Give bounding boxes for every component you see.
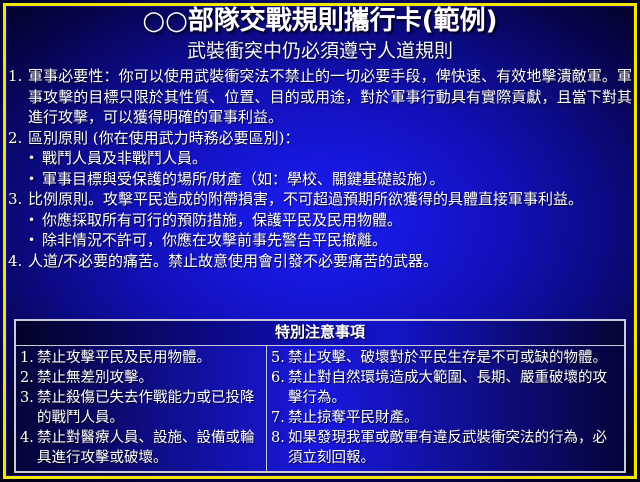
rule-text: 區別原則 (你在使用武力時務必要區別)：	[28, 129, 299, 147]
notice-marker: 2.	[20, 368, 34, 388]
rule-text: 比例原則。攻擊平民造成的附帶損害，不可超過預期所欲獲得的具體直接軍事利益。	[28, 190, 583, 208]
notice-marker: 8.	[271, 428, 285, 448]
rule-text: 軍事必要性：你可以使用武裝衝突法不禁止的一切必要手段，俾快速、有效地擊潰敵軍。軍…	[28, 67, 632, 126]
notice-text: 禁止對醫療人員、設施、設備或輪具進行攻擊或破壞。	[37, 430, 255, 466]
notice-marker: 6.	[271, 368, 285, 388]
rule-text: 人道/不必要的痛苦。禁止故意使用會引發不必要痛苦的武器。	[28, 252, 438, 270]
rule-item-3b: • 除非情況不許可，你應在攻擊前事先警告平民撤離。	[8, 230, 632, 251]
notice-text: 禁止對自然環境造成大範圍、長期、嚴重破壞的攻擊行為。	[288, 370, 607, 406]
notice-table: 特別注意事項 1. 禁止攻擊平民及民用物體。 2. 禁止無差別攻擊。 3. 禁止…	[14, 319, 626, 473]
notice-marker: 3.	[20, 388, 34, 408]
bullet-icon: •	[28, 230, 35, 251]
rule-item-2a: • 戰鬥人員及非戰鬥人員。	[8, 148, 632, 169]
rule-item-1: 1. 軍事必要性：你可以使用武裝衝突法不禁止的一切必要手段，俾快速、有效地擊潰敵…	[8, 66, 632, 128]
notice-text: 如果發現我軍或敵軍有違反武裝衝突法的行為，必須立刻回報。	[288, 430, 607, 466]
notice-text: 禁止無差別攻擊。	[37, 370, 153, 386]
notice-item-4: 4. 禁止對醫療人員、設施、設備或輪具進行攻擊或破壞。	[20, 428, 263, 468]
rule-item-2b: • 軍事目標與受保護的場所/財產（如：學校、關鍵基礎設施）。	[8, 169, 632, 190]
slide-canvas: ○○部隊交戰規則攜行卡(範例) 武裝衝突中仍必須遵守人道規則 1. 軍事必要性：…	[0, 0, 640, 482]
notice-item-6: 6. 禁止對自然環境造成大範圍、長期、嚴重破壞的攻擊行為。	[271, 368, 621, 408]
notice-marker: 5.	[271, 348, 285, 368]
rule-marker: 2.	[8, 128, 28, 149]
rule-item-4: 4. 人道/不必要的痛苦。禁止故意使用會引發不必要痛苦的武器。	[8, 251, 632, 272]
rules-list: 1. 軍事必要性：你可以使用武裝衝突法不禁止的一切必要手段，俾快速、有效地擊潰敵…	[8, 66, 632, 271]
rule-marker: 4.	[8, 251, 28, 272]
notice-item-1: 1. 禁止攻擊平民及民用物體。	[20, 348, 263, 368]
page-subtitle: 武裝衝突中仍必須遵守人道規則	[8, 38, 632, 64]
slide-content: ○○部隊交戰規則攜行卡(範例) 武裝衝突中仍必須遵守人道規則 1. 軍事必要性：…	[8, 5, 632, 476]
notice-table-body: 1. 禁止攻擊平民及民用物體。 2. 禁止無差別攻擊。 3. 禁止殺傷已失去作戰…	[16, 346, 624, 471]
notice-item-7: 7. 禁止掠奪平民財產。	[271, 408, 621, 428]
rule-text: 戰鬥人員及非戰鬥人員。	[42, 149, 207, 167]
notice-column-right: 5. 禁止攻擊、破壞對於平民生存是不可或缺的物體。 6. 禁止對自然環境造成大範…	[267, 346, 624, 471]
rule-marker: 1.	[8, 66, 28, 87]
notice-column-left: 1. 禁止攻擊平民及民用物體。 2. 禁止無差別攻擊。 3. 禁止殺傷已失去作戰…	[16, 346, 267, 471]
notice-item-2: 2. 禁止無差別攻擊。	[20, 368, 263, 388]
notice-table-header: 特別注意事項	[16, 321, 624, 346]
bullet-icon: •	[28, 148, 35, 169]
notice-text: 禁止攻擊平民及民用物體。	[37, 350, 211, 366]
rule-item-3a: • 你應採取所有可行的預防措施，保護平民及民用物體。	[8, 210, 632, 231]
notice-marker: 1.	[20, 348, 34, 368]
bullet-icon: •	[28, 169, 35, 190]
notice-text: 禁止殺傷已失去作戰能力或已投降的戰鬥人員。	[37, 390, 255, 426]
rule-item-3: 3. 比例原則。攻擊平民造成的附帶損害，不可超過預期所欲獲得的具體直接軍事利益。	[8, 189, 632, 210]
rule-text: 你應採取所有可行的預防措施，保護平民及民用物體。	[42, 211, 402, 229]
rule-item-2: 2. 區別原則 (你在使用武力時務必要區別)：	[8, 128, 632, 149]
notice-marker: 7.	[271, 408, 285, 428]
notice-text: 禁止攻擊、破壞對於平民生存是不可或缺的物體。	[288, 350, 607, 366]
bullet-icon: •	[28, 210, 35, 231]
notice-text: 禁止掠奪平民財產。	[288, 410, 419, 426]
notice-item-5: 5. 禁止攻擊、破壞對於平民生存是不可或缺的物體。	[271, 348, 621, 368]
notice-item-8: 8. 如果發現我軍或敵軍有違反武裝衝突法的行為，必須立刻回報。	[271, 428, 621, 468]
rule-marker: 3.	[8, 189, 28, 210]
rule-text: 軍事目標與受保護的場所/財產（如：學校、關鍵基礎設施）。	[42, 170, 445, 188]
notice-marker: 4.	[20, 428, 34, 448]
notice-item-3: 3. 禁止殺傷已失去作戰能力或已投降的戰鬥人員。	[20, 388, 263, 428]
rule-text: 除非情況不許可，你應在攻擊前事先警告平民撤離。	[42, 231, 387, 249]
page-title: ○○部隊交戰規則攜行卡(範例)	[8, 5, 632, 37]
